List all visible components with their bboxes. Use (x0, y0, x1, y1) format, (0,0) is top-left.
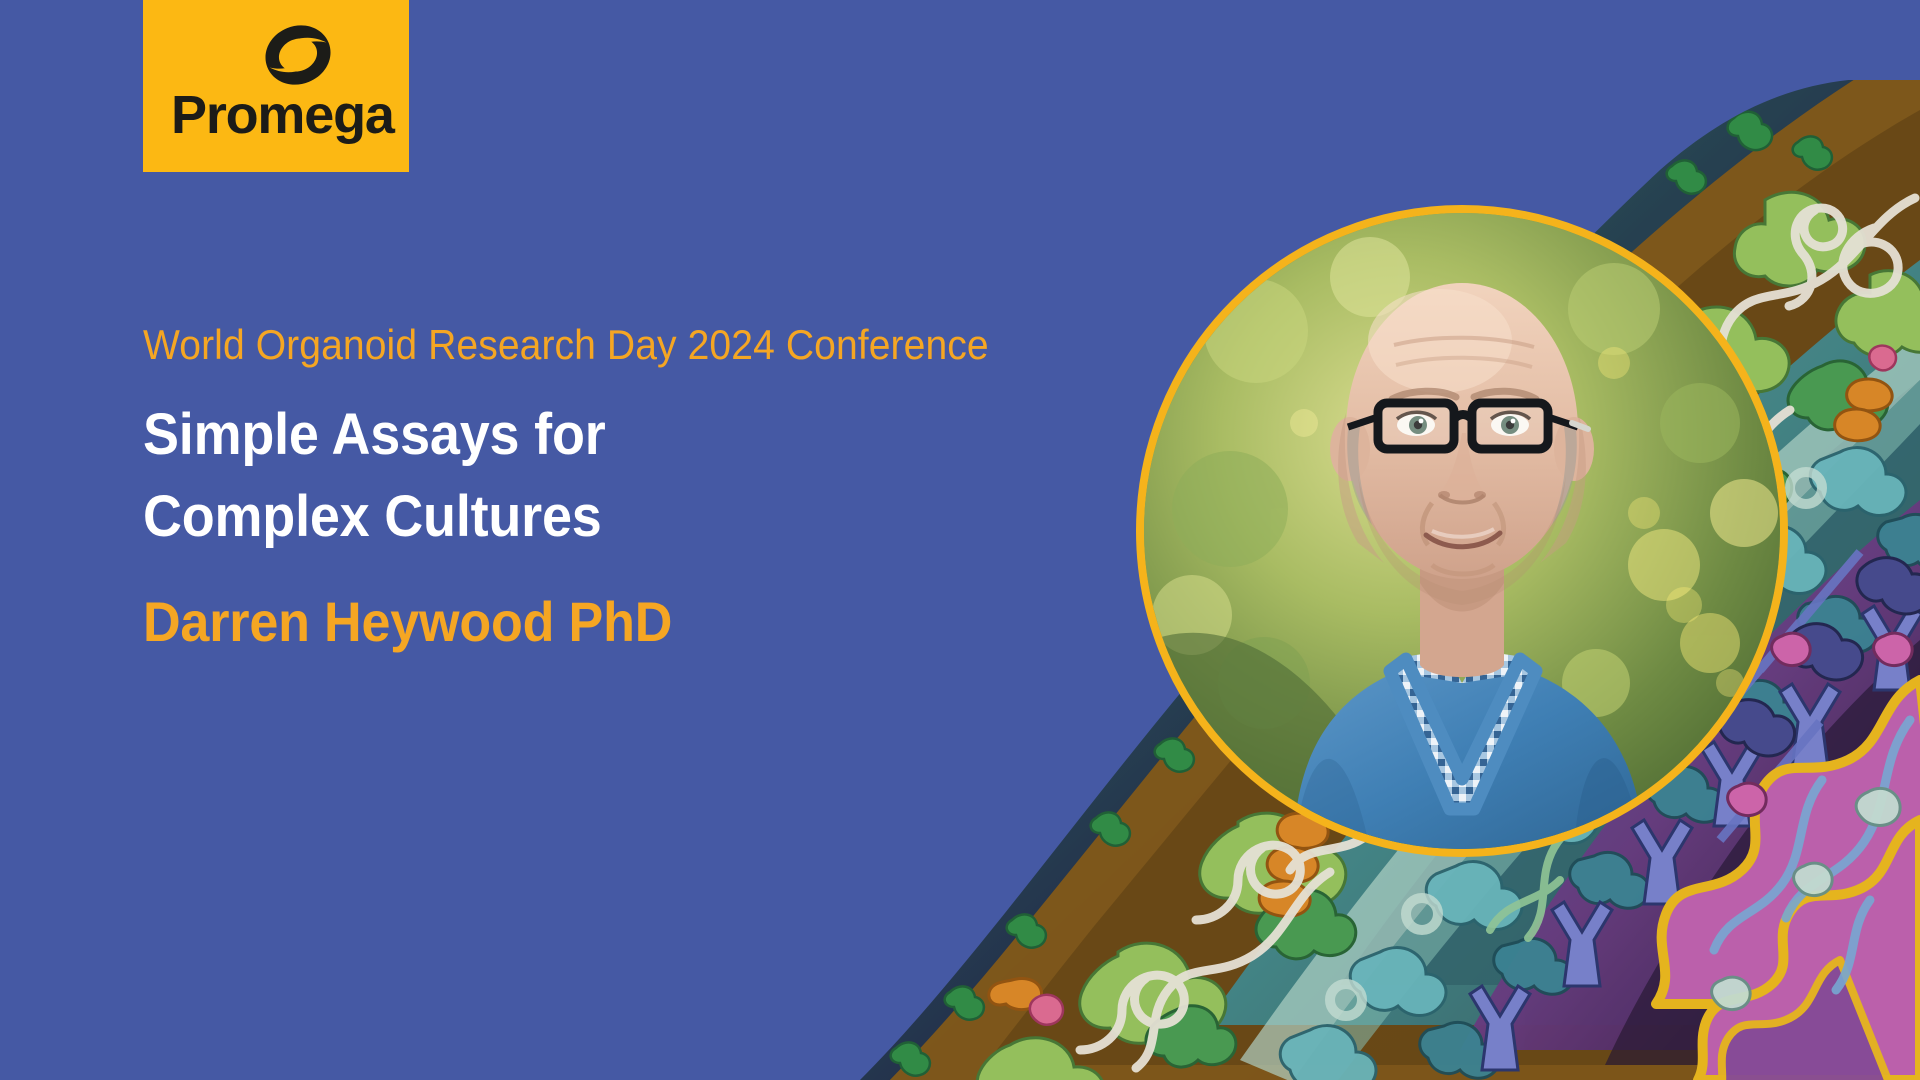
speaker-name: Darren Heywood PhD (143, 588, 1073, 655)
speaker-portrait (1136, 205, 1788, 857)
promega-wordmark: Promega (171, 88, 394, 142)
promega-ring-icon (261, 22, 335, 88)
page-title: Simple Assays for Complex Cultures (143, 394, 1073, 559)
promega-logo: Promega (143, 0, 409, 172)
title-card: Promega World Organoid Research Day 2024… (0, 0, 1920, 1080)
headline-line-1: Simple Assays for (143, 394, 1073, 476)
title-copy-block: World Organoid Research Day 2024 Confere… (143, 320, 1143, 655)
headline-line-2: Complex Cultures (143, 476, 1073, 558)
conference-name: World Organoid Research Day 2024 Confere… (143, 320, 1073, 370)
